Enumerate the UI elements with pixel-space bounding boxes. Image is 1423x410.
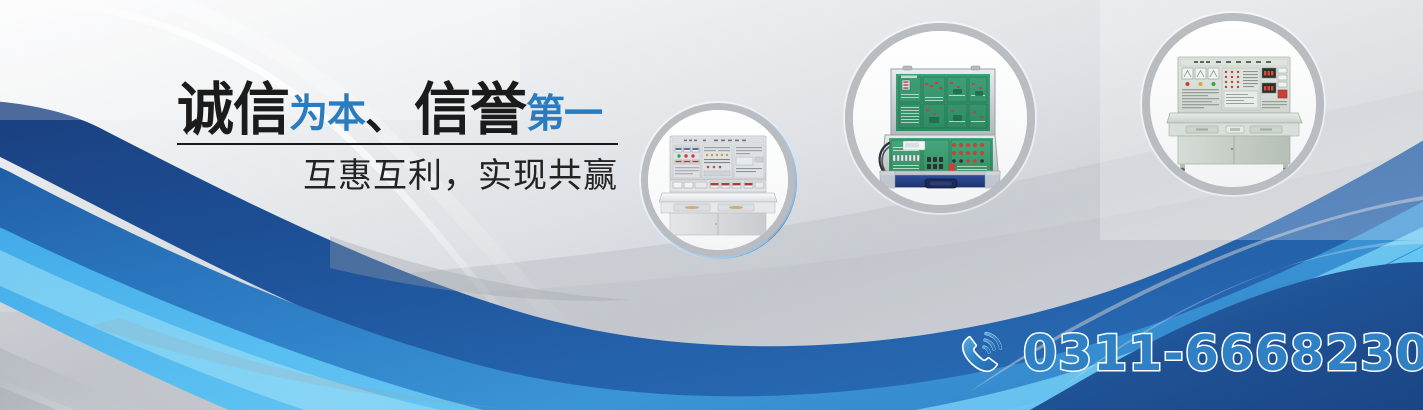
headline-segment-2: 为本 — [289, 92, 365, 137]
subtitle: 互惠互利，实现共赢 — [177, 157, 618, 196]
product-image-workbench-green — [1150, 21, 1316, 187]
phone-number: 0311-66682303 — [1023, 329, 1423, 378]
headline: 诚信为本、信誉第一 — [177, 82, 647, 139]
product-circle-1[interactable] — [648, 110, 788, 250]
product-circle-3[interactable] — [1150, 21, 1316, 187]
product-image-training-case — [853, 31, 1027, 205]
phone-call-icon — [955, 328, 1009, 382]
promo-banner: 诚信为本、信誉第一 互惠互利，实现共赢 — [0, 0, 1423, 410]
headline-block: 诚信为本、信誉第一 — [177, 82, 647, 139]
headline-punctuation: 、 — [365, 89, 403, 140]
headline-divider — [177, 143, 618, 145]
headline-segment-1: 诚信 — [177, 77, 289, 143]
headline-segment-3: 信誉 — [414, 77, 526, 143]
contact-phone-block[interactable]: 0311-66682303 — [955, 326, 1423, 380]
product-circle-2[interactable] — [853, 31, 1027, 205]
headline-segment-4: 第一 — [526, 92, 602, 137]
product-image-workbench-white — [648, 110, 788, 250]
